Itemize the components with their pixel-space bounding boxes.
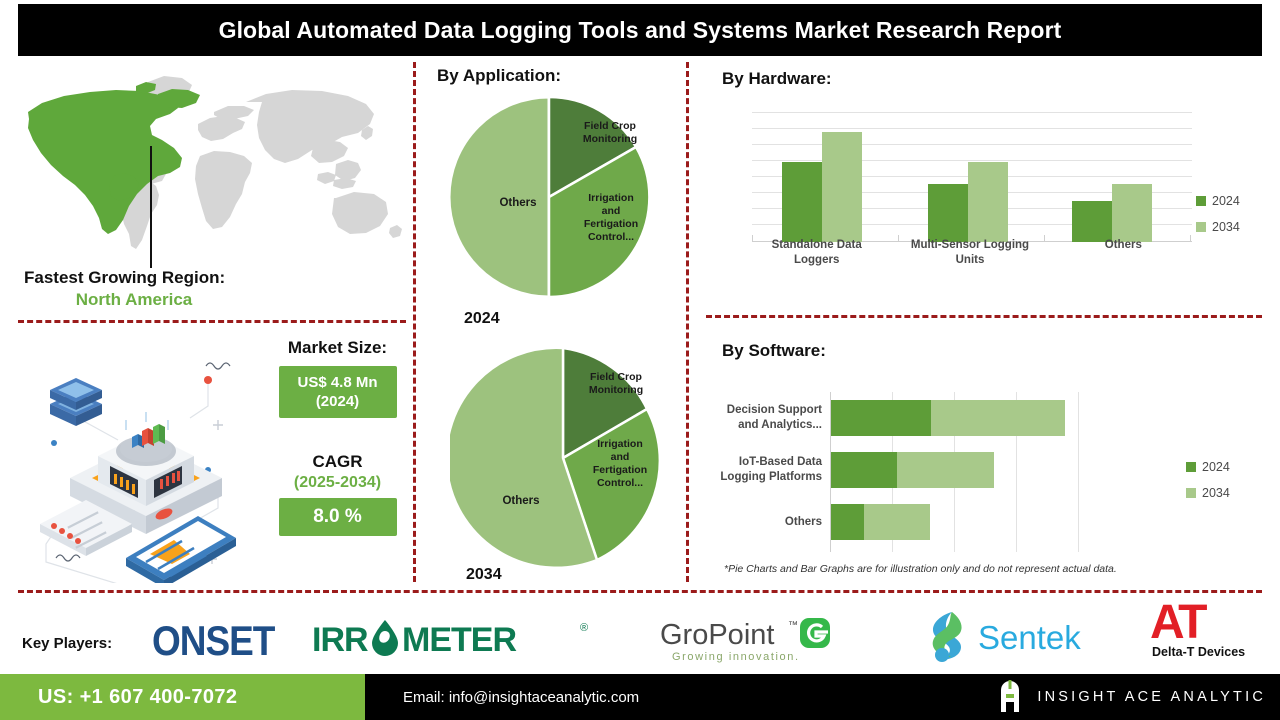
fastest-growing-region-value: North America bbox=[24, 290, 244, 310]
legend-label-2034: 2034 bbox=[1212, 220, 1240, 234]
bar-2024-standalone bbox=[782, 162, 822, 242]
pie-2024-year: 2024 bbox=[464, 310, 500, 328]
legend-swatch-2034 bbox=[1196, 222, 1206, 232]
logo-delta-t-devices: AT Delta-T Devices bbox=[1146, 596, 1264, 664]
bar-2024-others bbox=[1072, 201, 1112, 242]
isometric-analytics-illustration bbox=[22, 348, 268, 583]
cagr-label: CAGR bbox=[270, 452, 405, 472]
bar-2024-multisensor bbox=[928, 184, 968, 242]
logo-irrometer: IRR METER ® bbox=[312, 618, 602, 662]
software-track bbox=[830, 392, 1080, 444]
pie-2034-year: 2034 bbox=[466, 566, 502, 584]
infographic-page: Global Automated Data Logging Tools and … bbox=[0, 0, 1280, 720]
bar-2034-multisensor bbox=[968, 162, 1008, 242]
hardware-category-labels: Standalone DataLoggers Multi-Sensor Logg… bbox=[740, 238, 1200, 268]
footer-brand-text: INSIGHT ACE ANALYTIC bbox=[1037, 689, 1266, 705]
software-legend: 2024 2034 bbox=[1186, 460, 1230, 512]
bar-2034-others bbox=[1112, 184, 1152, 242]
hardware-legend: 2024 2034 bbox=[1196, 194, 1240, 246]
legend-label-2024: 2024 bbox=[1212, 194, 1240, 208]
hardware-cat-standalone: Standalone DataLoggers bbox=[740, 238, 893, 268]
pie-2034-label-field-crop: Field CropMonitoring bbox=[570, 371, 662, 397]
cagr-value: 8.0 % bbox=[313, 506, 362, 528]
legend-swatch-2024 bbox=[1196, 196, 1206, 206]
logo-gropoint: GroPoint ™ Growing innovation. bbox=[660, 614, 870, 666]
svg-text:Delta-T Devices: Delta-T Devices bbox=[1152, 645, 1245, 659]
chart-disclaimer: *Pie Charts and Bar Graphs are for illus… bbox=[724, 563, 1117, 575]
software-track bbox=[830, 444, 1080, 496]
gridline bbox=[752, 128, 1192, 129]
map-pointer-line bbox=[150, 146, 152, 268]
cagr-period: (2025-2034) bbox=[270, 474, 405, 492]
cagr-value-box: 8.0 % bbox=[279, 498, 397, 536]
pie-2024-label-field-crop: Field CropMonitoring bbox=[565, 120, 655, 146]
market-size-block: Market Size: US$ 4.8 Mn (2024) CAGR (202… bbox=[270, 338, 405, 536]
software-bar-chart: Decision Supportand Analytics... IoT-Bas… bbox=[700, 392, 1080, 548]
legend-item-2034: 2034 bbox=[1196, 220, 1240, 234]
svg-text:AT: AT bbox=[1150, 596, 1207, 649]
gridline bbox=[752, 144, 1192, 145]
footer-brand: INSIGHT ACE ANALYTIC bbox=[997, 680, 1266, 714]
svg-text:®: ® bbox=[580, 622, 588, 634]
world-map bbox=[18, 72, 408, 257]
svg-text:GroPoint: GroPoint bbox=[660, 619, 774, 651]
svg-text:Sentek: Sentek bbox=[978, 619, 1081, 656]
logo-sentek: Sentek bbox=[922, 608, 1112, 662]
hardware-bar-chart bbox=[752, 112, 1192, 242]
legend-item-2024: 2024 bbox=[1196, 194, 1240, 208]
page-title: Global Automated Data Logging Tools and … bbox=[219, 17, 1062, 44]
software-row-decision-support: Decision Supportand Analytics... bbox=[700, 392, 1080, 444]
hardware-cat-multisensor: Multi-Sensor LoggingUnits bbox=[893, 238, 1046, 268]
svg-text:Growing innovation.: Growing innovation. bbox=[672, 651, 800, 663]
divider-horizontal-bottom bbox=[18, 590, 1262, 593]
key-players-label: Key Players: bbox=[22, 635, 112, 652]
legend-swatch-2034 bbox=[1186, 488, 1196, 498]
segment-2024 bbox=[831, 504, 864, 540]
fastest-growing-region-label: Fastest Growing Region: bbox=[24, 268, 404, 288]
segment-2024 bbox=[831, 452, 897, 488]
pie-2024-label-irrigation: IrrigationandFertigationControl... bbox=[572, 192, 650, 244]
logo-onset: ONSET bbox=[152, 618, 292, 660]
market-size-value: US$ 4.8 Mn bbox=[297, 373, 377, 392]
divider-horizontal-right bbox=[706, 315, 1262, 318]
by-application-heading: By Application: bbox=[437, 66, 561, 86]
software-bar-decision-support bbox=[831, 400, 1065, 436]
fastest-growing-region: Fastest Growing Region: North America bbox=[24, 268, 404, 310]
segment-2034 bbox=[864, 504, 930, 540]
market-size-label: Market Size: bbox=[270, 338, 405, 358]
market-size-value-box: US$ 4.8 Mn (2024) bbox=[279, 366, 397, 418]
by-hardware-heading: By Hardware: bbox=[722, 69, 832, 89]
pie-2024-label-others: Others bbox=[481, 197, 555, 210]
footer-bar: US: +1 607 400-7072 Email: info@insighta… bbox=[0, 674, 1280, 720]
legend-label-2034: 2034 bbox=[1202, 486, 1230, 500]
report-title-bar: Global Automated Data Logging Tools and … bbox=[18, 4, 1262, 56]
footer-phone[interactable]: US: +1 607 400-7072 bbox=[0, 674, 365, 720]
legend-label-2024: 2024 bbox=[1202, 460, 1230, 474]
footer-email[interactable]: Email: info@insightaceanalytic.com bbox=[365, 689, 639, 706]
bar-2034-standalone bbox=[822, 132, 862, 242]
divider-vertical-left bbox=[413, 62, 416, 582]
pie-2034-label-irrigation: IrrigationandFertigationControl... bbox=[580, 438, 660, 490]
divider-horizontal-left bbox=[18, 320, 406, 323]
insight-ace-logo-icon bbox=[997, 680, 1023, 714]
divider-vertical-right bbox=[686, 62, 689, 582]
software-row-iot: IoT-Based DataLogging Platforms bbox=[700, 444, 1080, 496]
segment-2034 bbox=[931, 400, 1065, 436]
by-software-heading: By Software: bbox=[722, 341, 826, 361]
software-row-others: Others bbox=[700, 496, 1080, 548]
software-track bbox=[830, 496, 1080, 548]
svg-text:IRR: IRR bbox=[312, 621, 368, 659]
gridline bbox=[752, 112, 1192, 113]
segment-2024 bbox=[831, 400, 931, 436]
legend-item-2024: 2024 bbox=[1186, 460, 1230, 474]
market-size-year: (2024) bbox=[316, 392, 359, 411]
pie-2034-label-others: Others bbox=[484, 495, 558, 508]
segment-2034 bbox=[897, 452, 994, 488]
legend-item-2034: 2034 bbox=[1186, 486, 1230, 500]
svg-text:ONSET: ONSET bbox=[152, 618, 275, 660]
svg-text:™: ™ bbox=[788, 620, 798, 631]
software-cat-others: Others bbox=[700, 515, 830, 530]
software-cat-iot: IoT-Based DataLogging Platforms bbox=[700, 455, 830, 485]
hardware-cat-others: Others bbox=[1047, 238, 1200, 268]
software-bar-iot bbox=[831, 452, 994, 488]
legend-swatch-2024 bbox=[1186, 462, 1196, 472]
svg-text:METER: METER bbox=[402, 621, 516, 659]
software-cat-decision-support: Decision Supportand Analytics... bbox=[700, 403, 830, 433]
software-bar-others bbox=[831, 504, 930, 540]
gridline bbox=[752, 160, 1192, 161]
